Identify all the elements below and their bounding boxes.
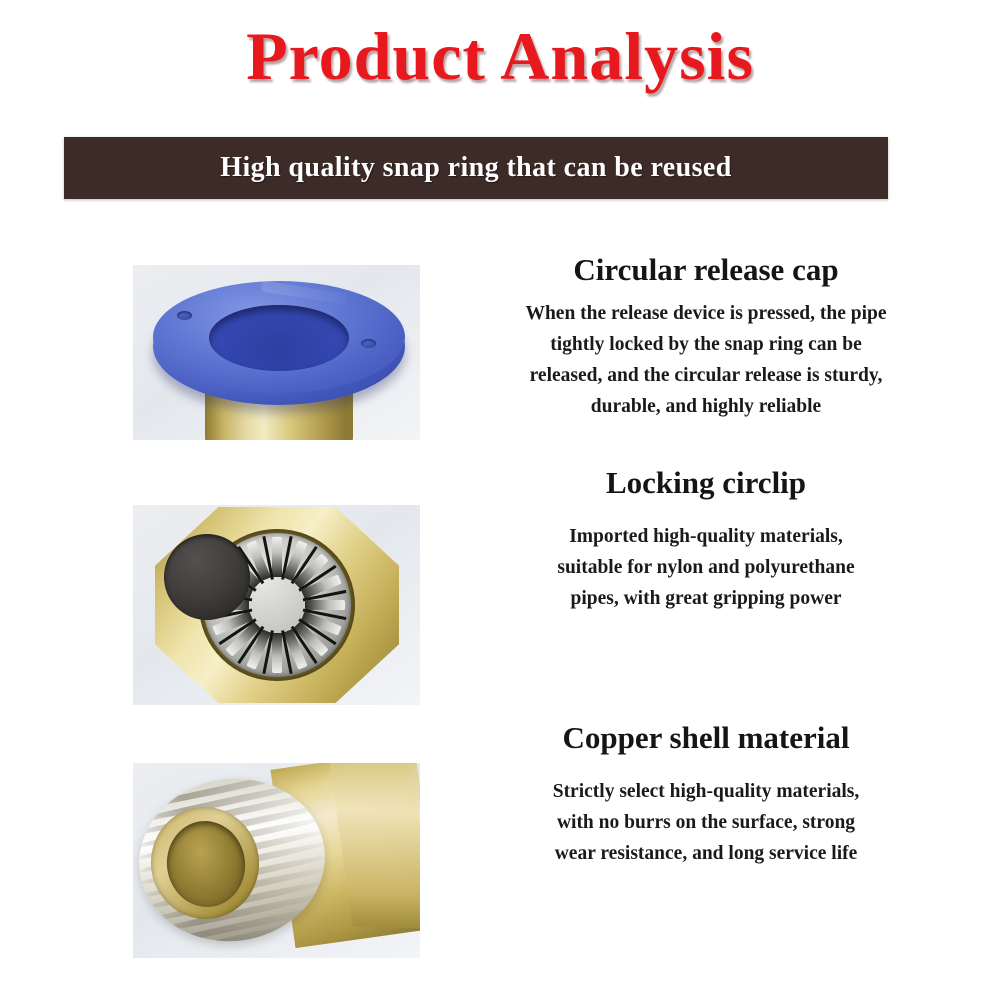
cap-inner-bore <box>209 305 349 371</box>
feature-text-column: Copper shell material Strictly select hi… <box>432 718 980 869</box>
feature-body-line: released, and the circular release is st… <box>432 360 980 391</box>
circlip-tooth <box>272 633 282 673</box>
feature-heading: Circular release cap <box>432 250 980 290</box>
copper-shell-illustration <box>133 763 420 958</box>
feature-body: Imported high-quality materials, suitabl… <box>432 521 980 614</box>
feature-heading: Locking circlip <box>432 463 980 503</box>
feature-heading: Copper shell material <box>432 718 980 758</box>
cap-dimple-right-icon <box>361 339 376 348</box>
product-photo-locking-circlip <box>133 505 420 705</box>
feature-text-column: Circular release cap When the release de… <box>432 250 980 422</box>
feature-body-line: wear resistance, and long service life <box>432 838 980 869</box>
feature-body: Strictly select high-quality materials, … <box>432 776 980 869</box>
feature-text-column: Locking circlip Imported high-quality ma… <box>432 463 980 614</box>
feature-body-line: Strictly select high-quality materials, <box>432 776 980 807</box>
product-photo-copper-shell <box>133 763 420 958</box>
circlip-tooth <box>305 600 345 610</box>
feature-body-line: tightly locked by the snap ring can be <box>432 329 980 360</box>
product-photo-release-cap <box>133 265 420 440</box>
feature-body-line: suitable for nylon and polyurethane <box>432 552 980 583</box>
subtitle-text: High quality snap ring that can be reuse… <box>220 152 731 184</box>
circlip-illustration <box>133 505 420 705</box>
subtitle-banner: High quality snap ring that can be reuse… <box>64 137 888 199</box>
feature-body: When the release device is pressed, the … <box>432 298 980 422</box>
circlip-center-shape <box>164 534 250 620</box>
release-cap-illustration <box>133 265 420 440</box>
feature-body-line: with no burrs on the surface, strong <box>432 807 980 838</box>
circlip-tooth <box>272 537 282 577</box>
feature-body-line: When the release device is pressed, the … <box>432 298 980 329</box>
cap-dimple-left-icon <box>177 311 192 320</box>
feature-body-line: durable, and highly reliable <box>432 391 980 422</box>
feature-body-line: Imported high-quality materials, <box>432 521 980 552</box>
feature-body-line: pipes, with great gripping power <box>432 583 980 614</box>
page-title: Product Analysis <box>0 14 1000 98</box>
